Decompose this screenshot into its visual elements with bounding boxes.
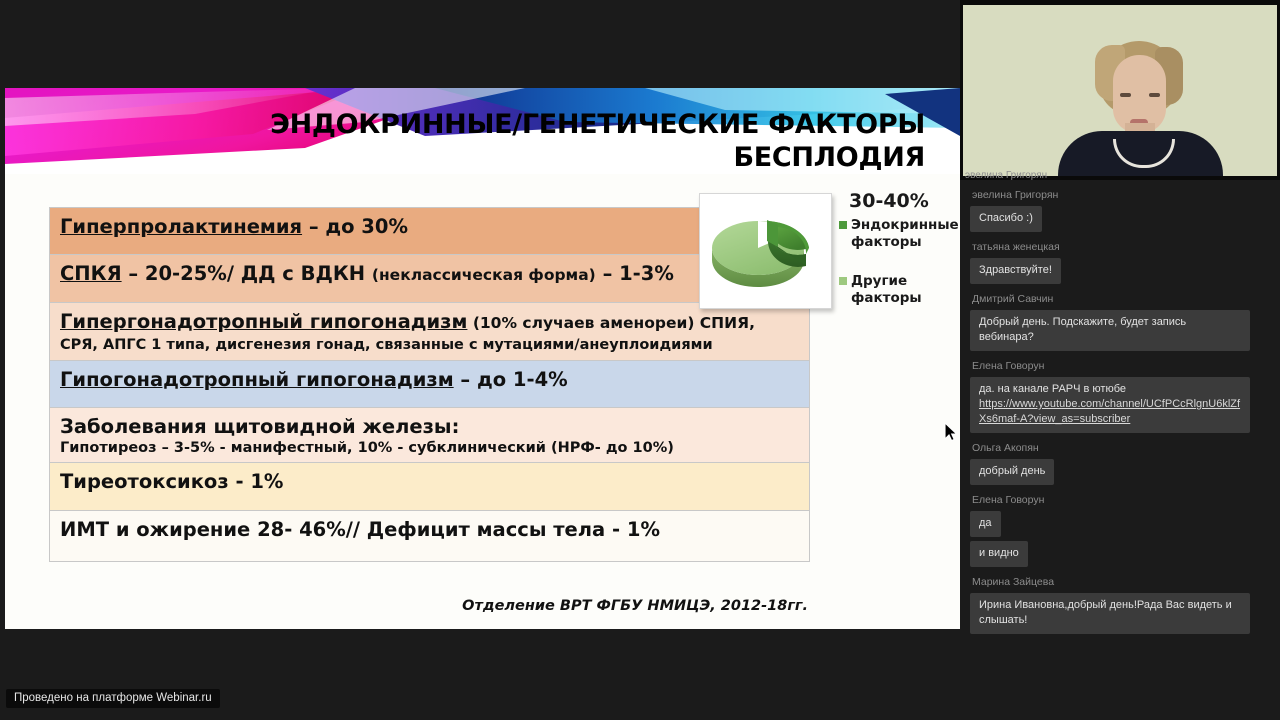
video-feed: [963, 5, 1277, 176]
chat-panel[interactable]: эвелина Григорян Спасибо :) татьяна жене…: [960, 180, 1280, 720]
row-main-text: Гипергонадотропный гипогонадизм (10% слу…: [60, 309, 799, 336]
legend-swatch-icon: [839, 221, 847, 229]
chat-author: Елена Говорун: [972, 360, 1270, 372]
chat-bubble: Спасибо :): [970, 206, 1042, 232]
chat-author: Дмитрий Савчин: [972, 293, 1270, 305]
chat-text: да. на канале РАРЧ в ютюбе: [979, 382, 1241, 397]
video-speaker-name: эвелина Григорян: [965, 170, 1047, 180]
chat-link[interactable]: https://www.youtube.com/channel/UCfPCcRl…: [979, 398, 1240, 425]
chat-author: Елена Говорун: [972, 494, 1270, 506]
row-paren-text: (10% случаев аменореи) СПИЯ,: [467, 314, 755, 332]
row-main-text: СПКЯ – 20-25%/ ДД с ВДКН (неклассическая…: [60, 261, 799, 288]
platform-watermark: Проведено на платформе Webinar.ru: [6, 689, 220, 708]
factors-table: Гиперпролактинемия – до 30% СПКЯ – 20-25…: [49, 207, 810, 562]
row-underlined-term: Гиперпролактинемия: [60, 215, 302, 238]
chat-bubble: Ирина Ивановна,добрый день!Рада Вас виде…: [970, 593, 1250, 634]
row-tail2-text: – 1-3%: [596, 262, 674, 285]
pie-chart-svg: [704, 200, 826, 300]
row-tail-text: – 20-25%/ ДД с ВДКН: [122, 262, 372, 285]
slide-canvas: ЭНДОКРИННЫЕ/ГЕНЕТИЧЕСКИЕ ФАКТОРЫ БЕСПЛОД…: [5, 88, 960, 629]
row-tail-text: – до 30%: [302, 215, 408, 238]
chat-message: Марина Зайцева Ирина Ивановна,добрый ден…: [960, 576, 1280, 634]
table-row: ИМТ и ожирение 28- 46%// Дефицит массы т…: [50, 511, 809, 561]
chat-author: татьяна женецкая: [972, 241, 1270, 253]
chat-message: Елена Говорун да. на канале РАРЧ в ютюбе…: [960, 360, 1280, 433]
speaker-video-tile[interactable]: эвелина Григорян: [960, 0, 1280, 180]
row-underlined-term: Гипогонадотропный гипогонадизм: [60, 368, 454, 391]
chat-author: Марина Зайцева: [972, 576, 1270, 588]
pie-chart: [699, 193, 832, 309]
row-underlined-term: Гипергонадотропный гипогонадизм: [60, 310, 467, 333]
table-row: Гиперпролактинемия – до 30%: [50, 208, 809, 255]
chat-bubble: да. на канале РАРЧ в ютюбе https://www.y…: [970, 377, 1250, 433]
legend-swatch-icon: [839, 277, 847, 285]
table-row: Заболевания щитовидной железы: Гипотирео…: [50, 408, 809, 463]
row-main-text: Заболевания щитовидной железы:: [60, 414, 799, 439]
presentation-stage: ЭНДОКРИННЫЕ/ГЕНЕТИЧЕСКИЕ ФАКТОРЫ БЕСПЛОД…: [0, 0, 960, 720]
chat-message: татьяна женецкая Здравствуйте!: [960, 241, 1280, 284]
row-main-text: ИМТ и ожирение 28- 46%// Дефицит массы т…: [60, 517, 799, 542]
chat-bubble: добрый день: [970, 459, 1054, 485]
chat-message: эвелина Григорян Спасибо :): [960, 189, 1280, 232]
legend-item-other: Другие факторы: [839, 273, 954, 307]
slide-title: ЭНДОКРИННЫЕ/ГЕНЕТИЧЕСКИЕ ФАКТОРЫ БЕСПЛОД…: [205, 108, 925, 174]
table-row: СПКЯ – 20-25%/ ДД с ВДКН (неклассическая…: [50, 255, 809, 303]
chat-message: Дмитрий Савчин Добрый день. Подскажите, …: [960, 293, 1280, 351]
row-paren-text: (неклассическая форма): [372, 266, 596, 284]
row-main-text: Гиперпролактинемия – до 30%: [60, 214, 799, 239]
chat-bubble: да: [970, 511, 1001, 537]
pie-percent-label: 30-40%: [839, 190, 954, 212]
person-eye-left: [1120, 93, 1131, 97]
row-main-text: Гипогонадотропный гипогонадизм – до 1-4%: [60, 367, 799, 392]
row-tail-text: – до 1-4%: [454, 368, 568, 391]
table-row: Гипергонадотропный гипогонадизм (10% слу…: [50, 303, 809, 361]
legend-label: Другие факторы: [851, 273, 954, 307]
chat-author: Ольга Акопян: [972, 442, 1270, 454]
person-eye-right: [1149, 93, 1160, 97]
legend-label: Эндокринные факторы: [851, 217, 959, 251]
table-row: Гипогонадотропный гипогонадизм – до 1-4%: [50, 361, 809, 408]
chat-message: Ольга Акопян добрый день: [960, 442, 1280, 485]
row-underlined-term: СПКЯ: [60, 262, 122, 285]
pie-chart-legend: 30-40% Эндокринные факторы Другие фактор…: [839, 190, 954, 329]
chat-bubble: и видно: [970, 541, 1028, 567]
table-row: Тиреотоксикоз - 1%: [50, 463, 809, 511]
right-sidebar: эвелина Григорян эвелина Григорян Спасиб…: [960, 0, 1280, 720]
chat-message: Елена Говорун да и видно: [960, 494, 1280, 567]
slide-source-footer: Отделение ВРТ ФГБУ НМИЦЭ, 2012-18гг.: [5, 598, 808, 614]
webinar-app: ЭНДОКРИННЫЕ/ГЕНЕТИЧЕСКИЕ ФАКТОРЫ БЕСПЛОД…: [0, 0, 1280, 720]
row-sub-text: СРЯ, АПГС 1 типа, дисгенезия гонад, связ…: [60, 336, 799, 355]
chat-bubble: Здравствуйте!: [970, 258, 1061, 284]
legend-item-endocrine: Эндокринные факторы: [839, 217, 954, 251]
row-sub-text: Гипотиреоз – 3-5% - манифестный, 10% - с…: [60, 439, 799, 458]
chat-author: эвелина Григорян: [972, 189, 1270, 201]
row-main-text: Тиреотоксикоз - 1%: [60, 469, 799, 494]
chat-bubble: Добрый день. Подскажите, будет запись ве…: [970, 310, 1250, 351]
